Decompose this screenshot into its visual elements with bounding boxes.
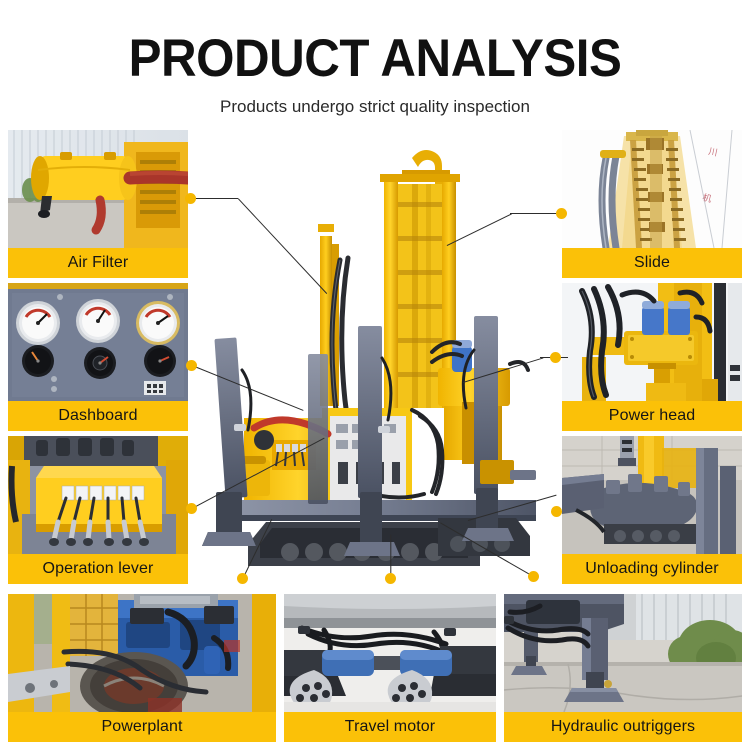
- panel-travel-motor[interactable]: Travel motor: [284, 594, 496, 742]
- panel-powerplant[interactable]: Powerplant: [8, 594, 276, 742]
- connector-dot-slide: [556, 208, 567, 219]
- connector-dot-dashboard: [186, 360, 197, 371]
- dashboard-photo: [8, 283, 188, 401]
- panel-power-head[interactable]: Power head: [562, 283, 742, 431]
- panel-label-unloading-cylinder: Unloading cylinder: [562, 554, 742, 584]
- air-filter-photo: [8, 130, 188, 248]
- power-head-photo: [562, 283, 742, 401]
- unloading-cylinder-photo: [562, 436, 742, 554]
- panel-air-filter[interactable]: Air Filter: [8, 130, 188, 278]
- connector-line-air-filter: [190, 198, 238, 199]
- connector-dot-power-head: [550, 352, 561, 363]
- panel-label-dashboard: Dashboard: [8, 401, 188, 431]
- slide-photo: 川 机: [562, 130, 742, 248]
- page-title: PRODUCT ANALYSIS: [26, 32, 724, 85]
- travel-motor-photo: [284, 594, 496, 712]
- panel-operation-lever[interactable]: Operation lever: [8, 436, 188, 584]
- panel-label-powerplant: Powerplant: [8, 712, 276, 742]
- connector-dot-operation-lever: [186, 503, 197, 514]
- connector-dot-air-filter: [185, 193, 196, 204]
- panel-label-travel-motor: Travel motor: [284, 712, 496, 742]
- connector-line-slide: [510, 213, 560, 214]
- panel-hydraulic-outriggers[interactable]: Hydraulic outriggers: [504, 594, 742, 742]
- connector-dot-powerplant: [237, 573, 248, 584]
- panel-label-power-head: Power head: [562, 401, 742, 431]
- powerplant-photo: [8, 594, 276, 712]
- connector-dot-travel-motor: [385, 573, 396, 584]
- infographic-canvas: PRODUCT ANALYSIS Products undergo strict…: [0, 0, 750, 750]
- connector-dot-unloading-cylinder: [551, 506, 562, 517]
- panel-slide[interactable]: 川 机: [562, 130, 742, 278]
- panel-label-air-filter: Air Filter: [8, 248, 188, 278]
- hydraulic-outriggers-photo: [504, 594, 742, 712]
- connector-dot-hydraulic-outriggers: [528, 571, 539, 582]
- drilling-rig-illustration: [180, 140, 580, 580]
- panel-label-slide: Slide: [562, 248, 742, 278]
- panel-dashboard[interactable]: Dashboard: [8, 283, 188, 431]
- main-product-image: [180, 140, 580, 580]
- operation-lever-photo: [8, 436, 188, 554]
- panel-unloading-cylinder[interactable]: Unloading cylinder: [562, 436, 742, 584]
- panel-label-hydraulic-outriggers: Hydraulic outriggers: [504, 712, 742, 742]
- panel-label-operation-lever: Operation lever: [8, 554, 188, 584]
- header: PRODUCT ANALYSIS Products undergo strict…: [0, 0, 750, 117]
- page-subtitle: Products undergo strict quality inspecti…: [0, 97, 750, 117]
